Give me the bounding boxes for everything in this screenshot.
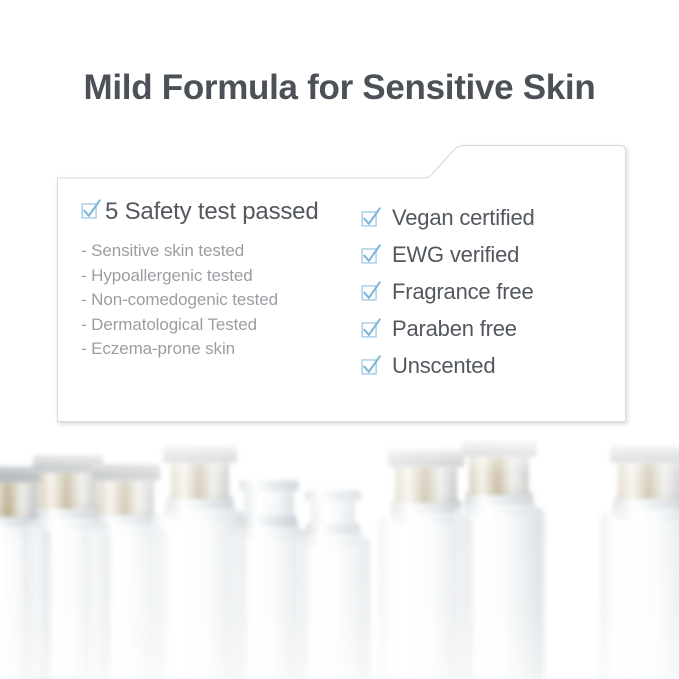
safety-test-column: 5 Safety test passed - Sensitive skin te…	[57, 171, 354, 362]
check-box-icon	[361, 355, 382, 376]
bottle	[452, 449, 546, 679]
certification-label: Unscented	[392, 353, 495, 379]
list-item: - Hypoallergenic tested	[81, 264, 354, 289]
list-item: - Eczema-prone skin	[81, 337, 354, 362]
certifications-list: Vegan certified EWG verified	[361, 199, 614, 384]
bottle	[600, 453, 679, 679]
product-infographic: Mild Formula for Sensitive Skin	[0, 0, 679, 679]
safety-test-list: - Sensitive skin tested - Hypoallergenic…	[81, 239, 354, 362]
list-item: - Dermatological Tested	[81, 313, 354, 338]
certifications-column: Vegan certified EWG verified	[354, 171, 614, 384]
list-item: EWG verified	[361, 236, 614, 273]
certification-label: EWG verified	[392, 242, 519, 268]
check-box-icon	[361, 207, 382, 228]
list-item: Paraben free	[361, 310, 614, 347]
check-box-icon	[81, 199, 102, 220]
list-item: - Sensitive skin tested	[81, 239, 354, 264]
list-item: Vegan certified	[361, 199, 614, 236]
list-item: Fragrance free	[361, 273, 614, 310]
list-item: - Non-comedogenic tested	[81, 288, 354, 313]
page-title: Mild Formula for Sensitive Skin	[0, 66, 679, 110]
certification-label: Paraben free	[392, 316, 517, 342]
product-photo	[0, 440, 679, 679]
bottle	[294, 491, 372, 679]
certification-label: Fragrance free	[392, 279, 534, 305]
bottle-group	[0, 440, 679, 679]
certification-label: Vegan certified	[392, 205, 535, 231]
check-box-icon	[361, 281, 382, 302]
list-item: Unscented	[361, 347, 614, 384]
feature-card: 5 Safety test passed - Sensitive skin te…	[50, 136, 633, 430]
check-box-icon	[361, 244, 382, 265]
safety-heading-label: 5 Safety test passed	[105, 199, 318, 225]
card-content: 5 Safety test passed - Sensitive skin te…	[57, 171, 626, 422]
check-box-icon	[361, 318, 382, 339]
safety-heading-row: 5 Safety test passed	[81, 199, 354, 225]
